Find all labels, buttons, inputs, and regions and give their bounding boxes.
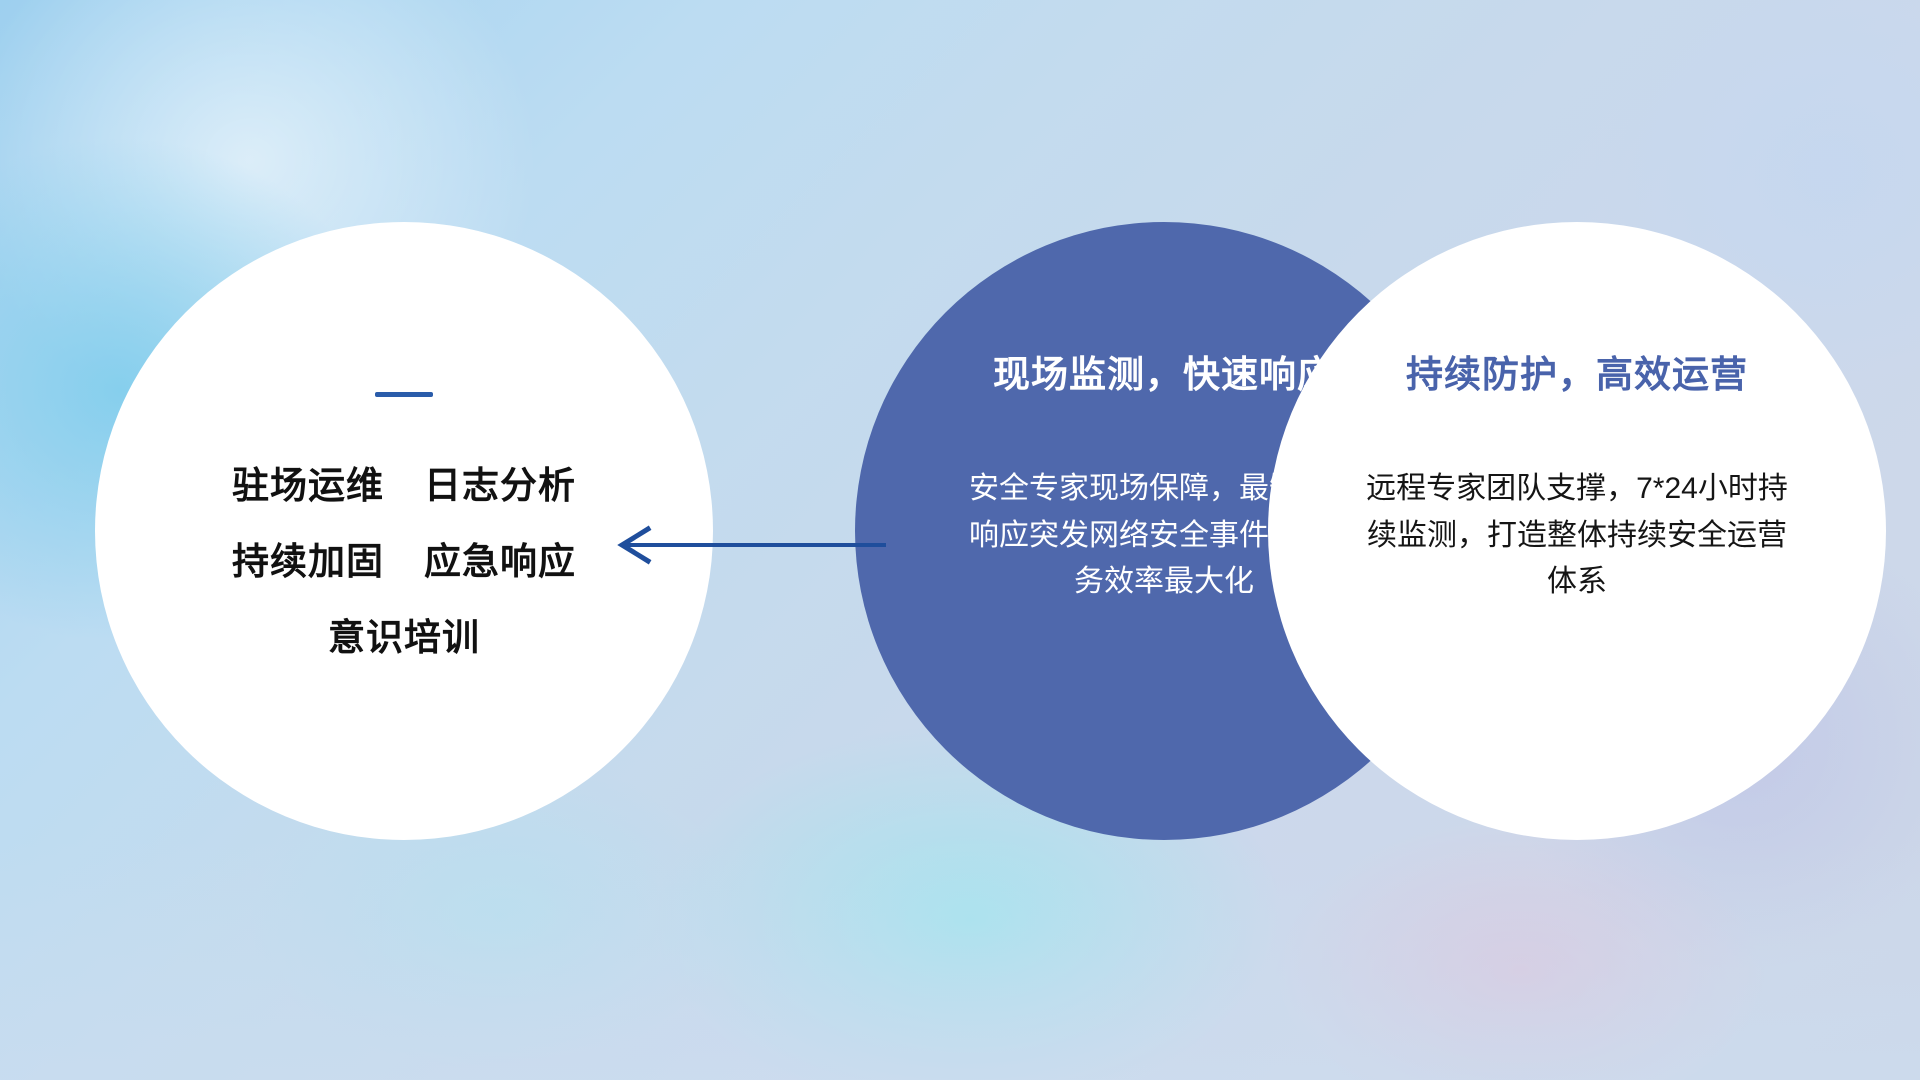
right-circle-body: 远程专家团队支撑，7*24小时持续监测，打造整体持续安全运营体系 [1362, 466, 1792, 606]
left-keyword-row-2: 持续加固 应急响应 [232, 531, 576, 585]
left-circle-divider [375, 392, 433, 397]
left-keyword-2: 日志分析 [424, 455, 576, 509]
right-circle-title: 持续防护，高效运营 [1406, 344, 1748, 398]
left-keyword-row-1: 驻场运维 日志分析 [232, 455, 576, 509]
left-keyword-3: 持续加固 [232, 531, 384, 585]
slide-canvas: 驻场运维 日志分析 持续加固 应急响应 意识培训 现场监测，快速响应 安全专家现… [0, 0, 1920, 1080]
left-circle-keyword-list: 驻场运维 日志分析 持续加固 应急响应 意识培训 [232, 455, 576, 661]
left-keyword-4: 应急响应 [424, 531, 576, 585]
right-circle-content: 持续防护，高效运营 远程专家团队支撑，7*24小时持续监测，打造整体持续安全运营… [1268, 222, 1886, 840]
flow-arrow-left-icon [600, 515, 890, 575]
left-keyword-1: 驻场运维 [232, 455, 384, 509]
left-keyword-5: 意识培训 [328, 607, 480, 661]
